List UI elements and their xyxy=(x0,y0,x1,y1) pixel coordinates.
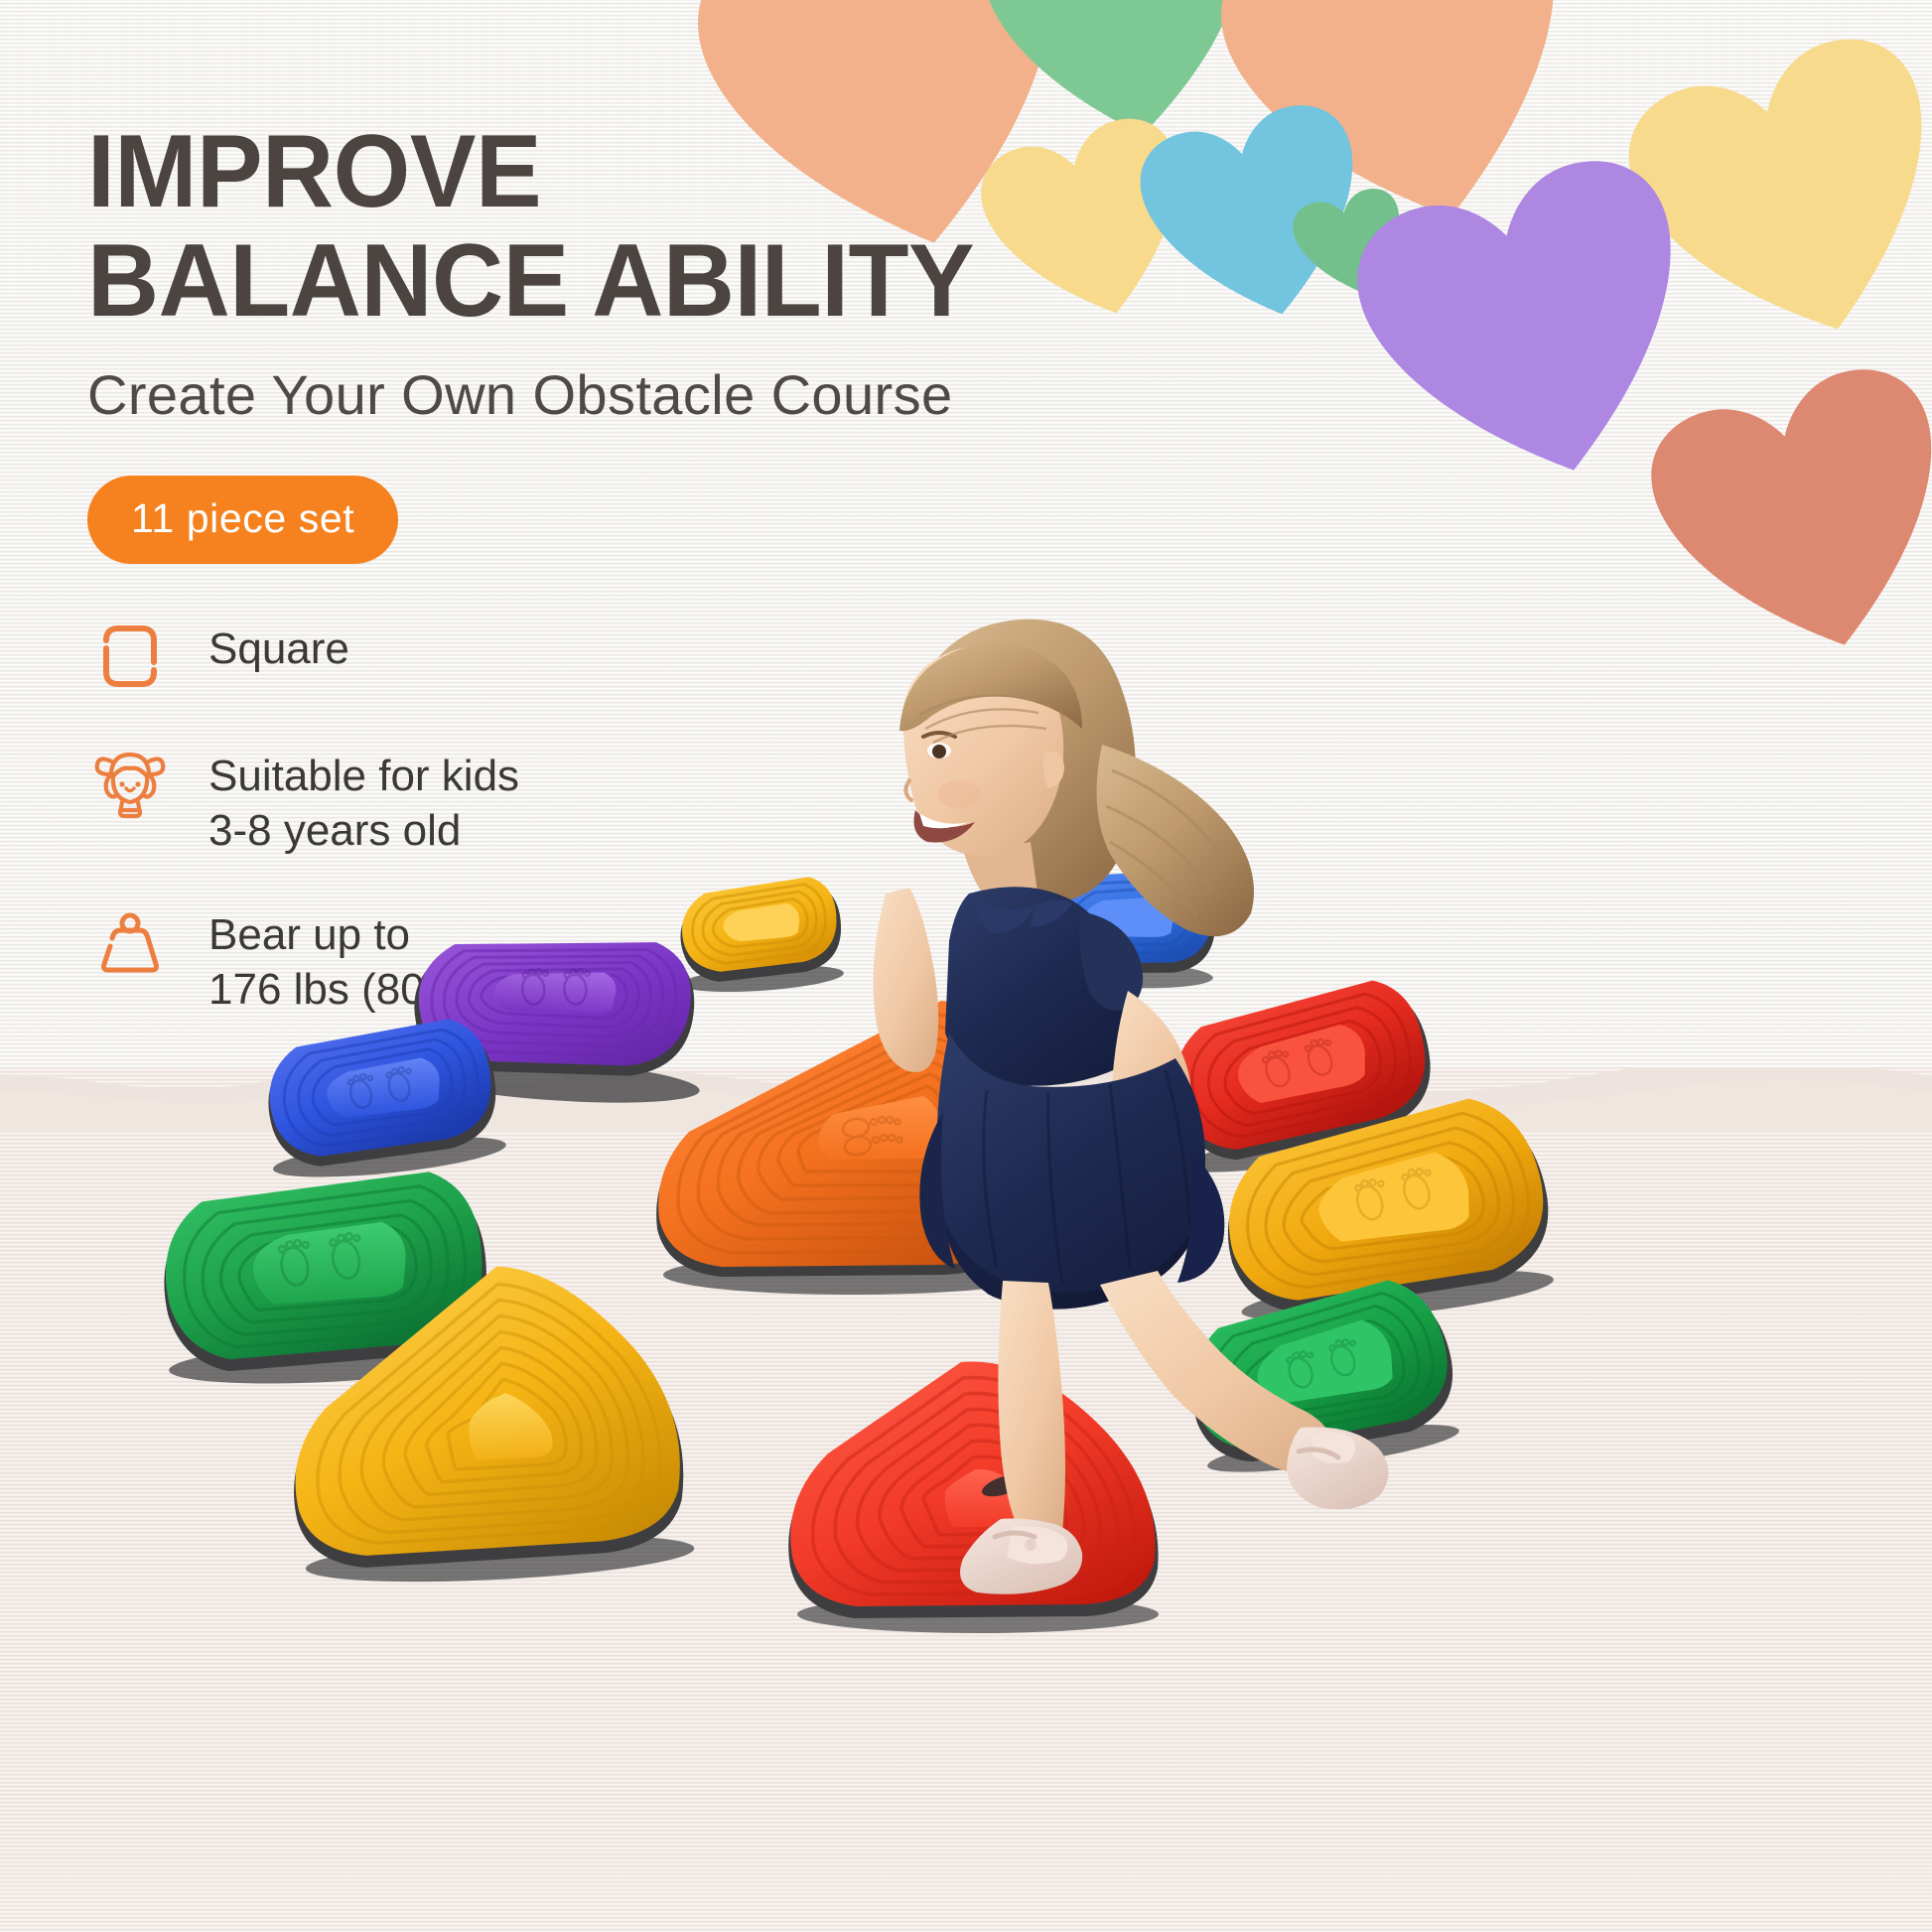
child-photo xyxy=(764,596,1479,1588)
square-icon xyxy=(87,614,173,699)
girl-face-icon xyxy=(87,741,173,826)
shoe-raised xyxy=(1287,1427,1389,1509)
infographic-canvas: IMPROVE BALANCE ABILITY Create Your Own … xyxy=(0,0,1932,1932)
shoe-standing xyxy=(960,1519,1082,1594)
stone-yellow-large xyxy=(265,1232,719,1597)
weight-icon xyxy=(87,899,173,985)
feature-label-shape: Square xyxy=(208,614,349,676)
page-title: IMPROVE BALANCE ABILITY xyxy=(87,117,1059,336)
subtitle: Create Your Own Obstacle Course xyxy=(87,363,1100,427)
piece-count-badge: 11 piece set xyxy=(87,476,398,564)
feature-label-age: Suitable for kids 3-8 years old xyxy=(208,741,519,858)
